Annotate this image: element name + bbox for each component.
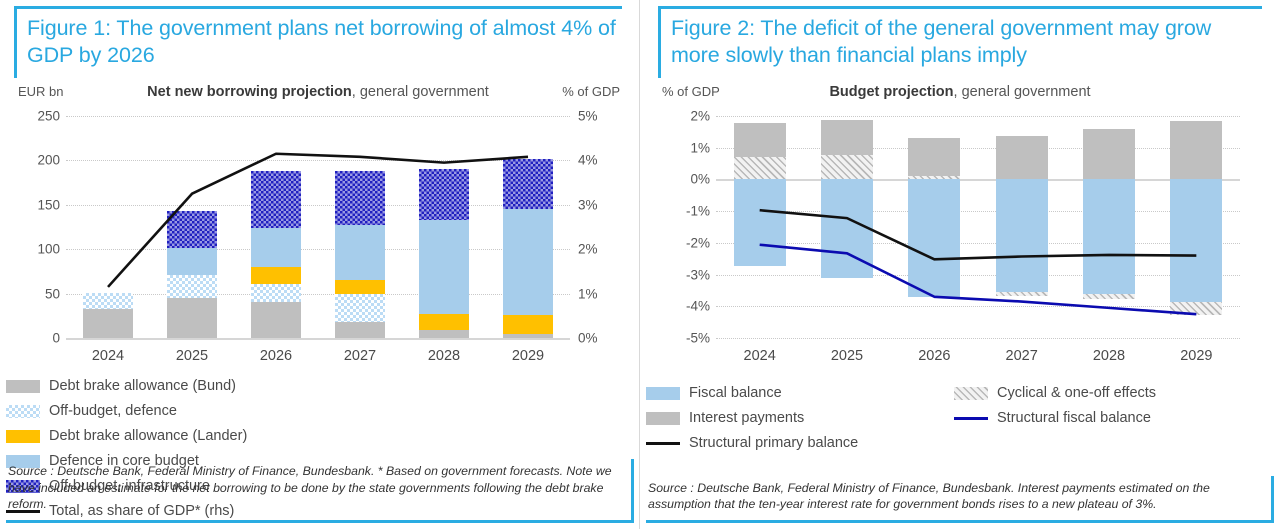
figure-1-title: Figure 1: The government plans net borro… bbox=[27, 15, 618, 70]
legend-line-structural-fiscal-balance bbox=[954, 417, 988, 420]
legend-label: Fiscal balance bbox=[689, 385, 782, 401]
legend-label: Interest payments bbox=[689, 410, 804, 426]
legend-label: Off-budget, defence bbox=[49, 403, 177, 419]
figure-2-title: Figure 2: The deficit of the general gov… bbox=[671, 15, 1258, 70]
legend-item-structural-primary-balance[interactable]: Structural primary balance bbox=[646, 435, 954, 451]
figure-2-chart: % of GDP Budget projection, general gove… bbox=[658, 84, 1262, 384]
line-overlay bbox=[14, 84, 622, 384]
legend-label: Cyclical & one-off effects bbox=[997, 385, 1156, 401]
legend-item-structural-fiscal-balance[interactable]: Structural fiscal balance bbox=[954, 410, 1262, 426]
figure-2-panel: Figure 2: The deficit of the general gov… bbox=[640, 0, 1280, 529]
figure-2-plot: 2%1%0%-1%-2%-3%-4%-5%2024202520262027202… bbox=[658, 84, 1262, 384]
figure-1-source: Source : Deutsche Bank, Federal Ministry… bbox=[6, 459, 634, 523]
figure-2-title-box: Figure 2: The deficit of the general gov… bbox=[658, 6, 1262, 78]
legend-label: Debt brake allowance (Bund) bbox=[49, 378, 236, 394]
legend-label: Debt brake allowance (Lander) bbox=[49, 428, 247, 444]
legend-swatch-debt-brake-lander bbox=[6, 430, 40, 443]
legend-label: Structural fiscal balance bbox=[997, 410, 1151, 426]
legend-item-debt-brake-bund[interactable]: Debt brake allowance (Bund) bbox=[6, 378, 324, 394]
legend-swatch-cyclical-one-off-effects bbox=[954, 387, 988, 400]
legend-swatch-off-budget-defence bbox=[6, 405, 40, 418]
line-total-as-share-of-gdp-rhs- bbox=[108, 154, 528, 287]
legend-line-structural-primary-balance bbox=[646, 442, 680, 445]
figure-1-panel: Figure 1: The government plans net borro… bbox=[0, 0, 640, 529]
legend-swatch-fiscal-balance bbox=[646, 387, 680, 400]
figure-2-source: Source : Deutsche Bank, Federal Ministry… bbox=[646, 476, 1274, 523]
legend-swatch-interest-payments bbox=[646, 412, 680, 425]
legend-item-cyclical-one-off-effects[interactable]: Cyclical & one-off effects bbox=[954, 385, 1262, 401]
legend-item-fiscal-balance[interactable]: Fiscal balance bbox=[646, 385, 954, 401]
legend-item-debt-brake-lander[interactable]: Debt brake allowance (Lander) bbox=[6, 428, 324, 444]
figure-1-chart: EUR bn % of GDP Net new borrowing projec… bbox=[14, 84, 622, 384]
legend-item-interest-payments[interactable]: Interest payments bbox=[646, 410, 954, 426]
legend-label: Structural primary balance bbox=[689, 435, 858, 451]
figures-container: Figure 1: The government plans net borro… bbox=[0, 0, 1280, 529]
legend-swatch-debt-brake-bund bbox=[6, 380, 40, 393]
figure-1-plot: 0501001502002500%1%2%3%4%5%2024202520262… bbox=[14, 84, 622, 384]
line-overlay bbox=[658, 84, 1262, 384]
legend-item-off-budget-defence[interactable]: Off-budget, defence bbox=[6, 403, 324, 419]
figure-1-title-box: Figure 1: The government plans net borro… bbox=[14, 6, 622, 78]
figure-2-legend: Fiscal balanceCyclical & one-off effects… bbox=[646, 385, 1274, 460]
